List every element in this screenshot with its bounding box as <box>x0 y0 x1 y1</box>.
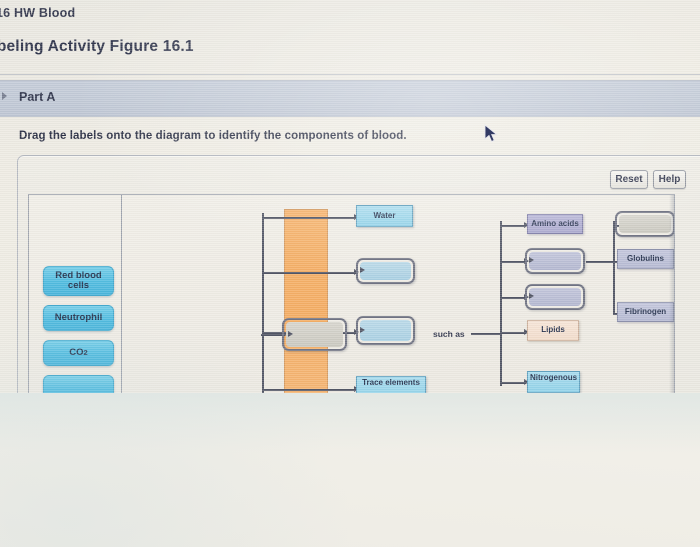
slot-proteins-caret-icon <box>360 267 368 275</box>
drag-label-co2[interactable]: CO2 <box>43 340 114 366</box>
slot-solutes-caret-icon <box>360 327 368 335</box>
slot-plasma-caret-icon <box>288 331 296 339</box>
below-screen-area <box>0 393 700 547</box>
slot-electrolytes-caret-icon <box>529 293 537 301</box>
box-lipids: Lipids <box>527 320 579 341</box>
help-button[interactable]: Help <box>653 170 686 189</box>
header-divider <box>0 74 700 75</box>
trunk-solutes-vertical <box>500 221 502 386</box>
drop-slot-albumin[interactable] <box>615 211 675 237</box>
question-prompt: Drag the labels onto the diagram to iden… <box>19 130 407 142</box>
arrow-to-proteins-slot <box>262 268 362 277</box>
connector-solutes-to-trunk2 <box>471 333 501 336</box>
connector-proteins-to-trunk3 <box>586 261 614 264</box>
box-fibrinogen: Fibrinogen <box>617 302 674 322</box>
co2-text: CO <box>69 348 83 358</box>
slot-plasma-proteins-caret-icon <box>529 257 537 265</box>
part-label: Part A <box>19 90 55 104</box>
reset-button[interactable]: Reset <box>610 170 648 189</box>
label-bank-divider <box>121 195 122 393</box>
labeling-activity-frame[interactable]: Red blood cells Neutrophil CO2 <box>28 194 675 393</box>
drag-label-blank[interactable] <box>43 375 114 393</box>
box-nitrogenous-wastes: Nitrogenous <box>527 371 580 393</box>
activity-title: abeling Activity Figure 16.1 <box>0 38 194 56</box>
collapse-caret-icon[interactable] <box>2 92 7 100</box>
mouse-cursor-icon <box>484 124 500 144</box>
such-as-connector-label: such as <box>433 329 465 339</box>
box-globulins: Globulins <box>617 249 674 269</box>
part-a-band[interactable] <box>0 80 700 117</box>
trunk-proteins-vertical <box>613 221 615 313</box>
box-water: Water <box>356 205 413 227</box>
drag-label-neutrophil[interactable]: Neutrophil <box>43 305 114 331</box>
co2-subscript: 2 <box>84 349 88 357</box>
arrow-to-trace-elements <box>262 385 362 393</box>
arrow-to-water <box>262 213 362 222</box>
drag-label-red-blood-cells[interactable]: Red blood cells <box>43 266 114 296</box>
plasma-column <box>284 209 328 393</box>
connector-plasma-trunk <box>262 213 264 393</box>
box-trace-elements: Trace elements <box>356 376 426 393</box>
screen-photo-area: 16 HW Blood abeling Activity Figure 16.1… <box>0 0 700 393</box>
course-header: 16 HW Blood <box>0 6 75 20</box>
box-amino-acids: Amino acids <box>527 214 583 234</box>
